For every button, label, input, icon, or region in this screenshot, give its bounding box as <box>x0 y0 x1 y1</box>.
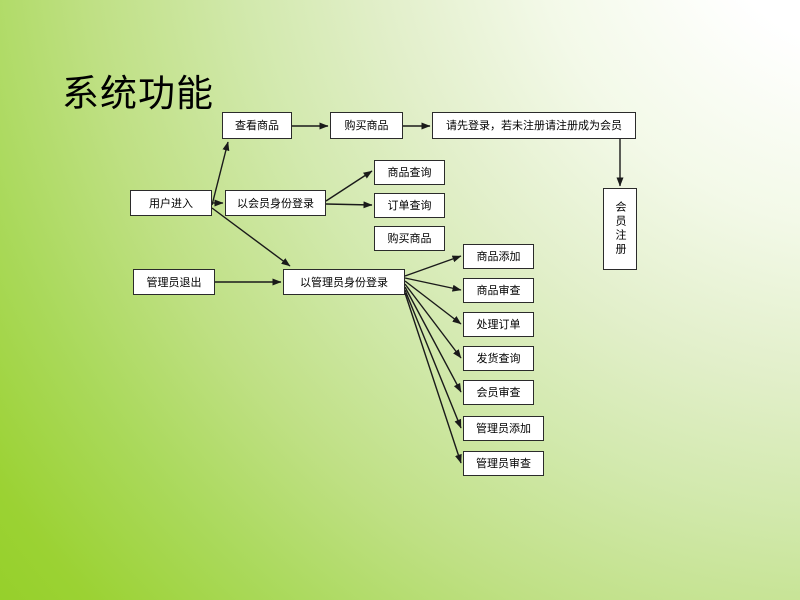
connector-arrow <box>405 256 461 276</box>
flow-node-product-audit: 商品审查 <box>463 278 534 303</box>
flow-node-member-register: 会员注册 <box>603 188 637 270</box>
flow-node-member-audit: 会员审查 <box>463 380 534 405</box>
flow-node-admin-add: 管理员添加 <box>463 416 544 441</box>
flow-node-shipping-query: 发货查询 <box>463 346 534 371</box>
flow-node-login-prompt: 请先登录，若未注册请注册成为会员 <box>432 112 636 139</box>
connector-arrow <box>405 293 461 463</box>
slide-canvas: 系统功能 查看商品购买商品请先登录，若未注册请注册成为会员会员注册用户进入以会员… <box>0 0 800 600</box>
flow-node-buy-product-mid: 购买商品 <box>374 226 445 251</box>
connector-arrow <box>405 287 461 392</box>
connector-arrow <box>405 290 461 428</box>
page-title: 系统功能 <box>62 72 214 116</box>
flow-node-product-query: 商品查询 <box>374 160 445 185</box>
flow-node-order-query: 订单查询 <box>374 193 445 218</box>
flow-node-admin-audit: 管理员审查 <box>463 451 544 476</box>
flow-node-member-login: 以会员身份登录 <box>225 190 326 216</box>
connector-arrow <box>405 281 461 324</box>
flow-node-process-order: 处理订单 <box>463 312 534 337</box>
flow-node-admin-login: 以管理员身份登录 <box>283 269 405 295</box>
connector-arrow <box>405 284 461 358</box>
connector-arrow <box>326 171 372 201</box>
flow-node-admin-logout: 管理员退出 <box>133 269 215 295</box>
connector-arrow <box>212 208 290 266</box>
flow-node-user-enter: 用户进入 <box>130 190 212 216</box>
connector-arrow <box>405 278 461 290</box>
connector-arrow <box>326 204 372 205</box>
flow-node-buy-product-top: 购买商品 <box>330 112 403 139</box>
flow-node-product-add: 商品添加 <box>463 244 534 269</box>
flow-node-view-product: 查看商品 <box>222 112 292 139</box>
